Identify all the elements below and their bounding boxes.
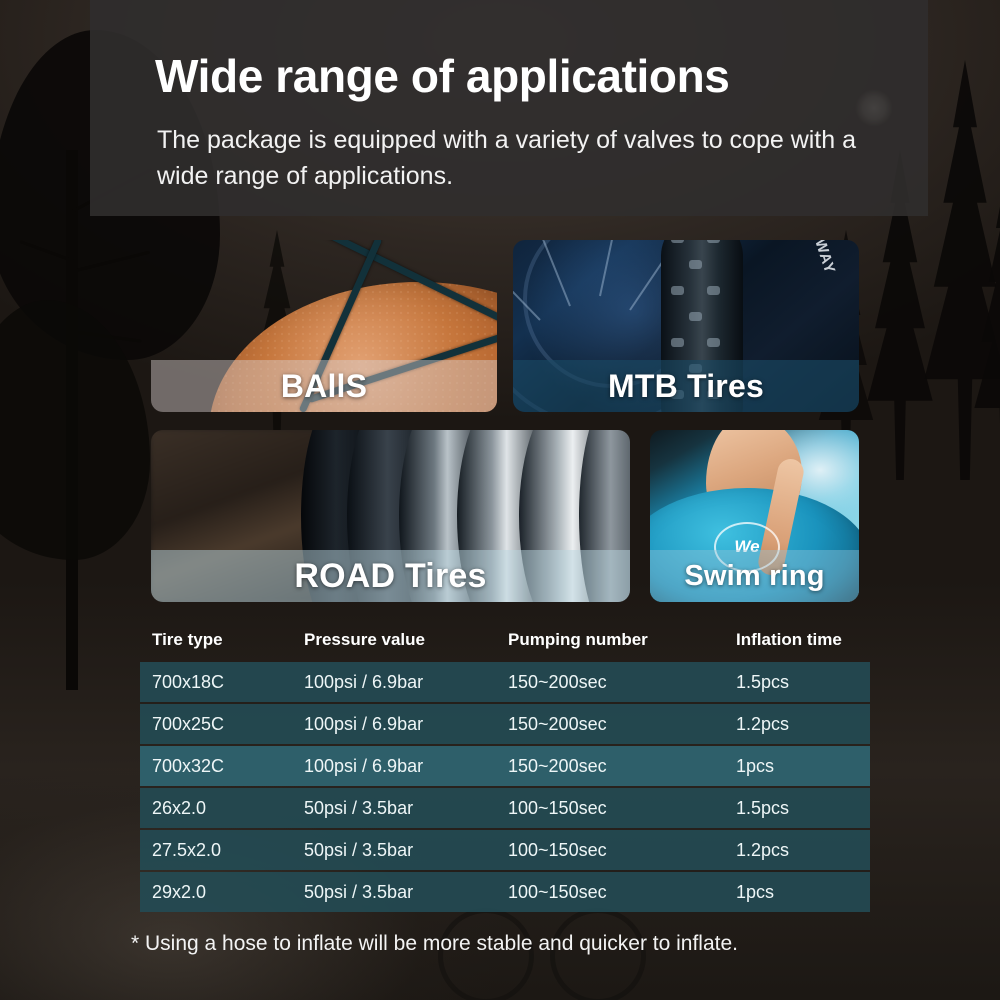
infographic-page: Wide range of applications The package i… bbox=[0, 0, 1000, 1000]
cell-tire-type: 700x18C bbox=[140, 672, 292, 693]
card-label-text: ROAD Tires bbox=[151, 557, 630, 596]
table-row: 700x32C 100psi / 6.9bar 150~200sec 1pcs bbox=[140, 746, 870, 786]
card-label-bar-mtb: MTB Tires bbox=[513, 360, 859, 412]
cell-inflation-time: 1pcs bbox=[724, 756, 870, 777]
page-title: Wide range of applications bbox=[155, 52, 915, 102]
cell-pumping-number: 150~200sec bbox=[496, 672, 724, 693]
mtb-brand-watermark: WAY bbox=[811, 240, 838, 276]
cell-pumping-number: 150~200sec bbox=[496, 756, 724, 777]
cell-pressure-value: 100psi / 6.9bar bbox=[292, 714, 496, 735]
cell-pumping-number: 100~150sec bbox=[496, 840, 724, 861]
column-header-tire-type: Tire type bbox=[140, 630, 292, 650]
application-card-swim[interactable]: We Swim ring bbox=[650, 430, 859, 602]
cell-pumping-number: 150~200sec bbox=[496, 714, 724, 735]
table-row: 27.5x2.0 50psi / 3.5bar 100~150sec 1.2pc… bbox=[140, 830, 870, 870]
table-row: 29x2.0 50psi / 3.5bar 100~150sec 1pcs bbox=[140, 872, 870, 912]
page-subtitle: The package is equipped with a variety o… bbox=[157, 123, 877, 194]
application-card-road[interactable]: ROAD Tires bbox=[151, 430, 630, 602]
specification-table: Tire type Pressure value Pumping number … bbox=[140, 622, 870, 914]
application-card-balls[interactable]: BAllS bbox=[151, 240, 497, 412]
cell-inflation-time: 1.5pcs bbox=[724, 672, 870, 693]
cell-inflation-time: 1.2pcs bbox=[724, 840, 870, 861]
card-label-bar-road: ROAD Tires bbox=[151, 550, 630, 602]
cell-pressure-value: 100psi / 6.9bar bbox=[292, 756, 496, 777]
cell-tire-type: 700x25C bbox=[140, 714, 292, 735]
card-label-bar-swim: Swim ring bbox=[650, 550, 859, 602]
card-label-text: MTB Tires bbox=[513, 368, 859, 405]
table-row: 700x18C 100psi / 6.9bar 150~200sec 1.5pc… bbox=[140, 662, 870, 702]
cell-pressure-value: 50psi / 3.5bar bbox=[292, 798, 496, 819]
column-header-pressure-value: Pressure value bbox=[292, 630, 496, 650]
table-row: 26x2.0 50psi / 3.5bar 100~150sec 1.5pcs bbox=[140, 788, 870, 828]
cell-tire-type: 700x32C bbox=[140, 756, 292, 777]
column-header-inflation-time: Inflation time bbox=[724, 630, 870, 650]
cell-tire-type: 26x2.0 bbox=[140, 798, 292, 819]
cell-inflation-time: 1.2pcs bbox=[724, 714, 870, 735]
cell-inflation-time: 1.5pcs bbox=[724, 798, 870, 819]
cell-pressure-value: 50psi / 3.5bar bbox=[292, 882, 496, 903]
card-label-text: Swim ring bbox=[650, 560, 859, 593]
cell-tire-type: 29x2.0 bbox=[140, 882, 292, 903]
cell-pressure-value: 100psi / 6.9bar bbox=[292, 672, 496, 693]
table-row: 700x25C 100psi / 6.9bar 150~200sec 1.2pc… bbox=[140, 704, 870, 744]
footnote-text: * Using a hose to inflate will be more s… bbox=[131, 932, 891, 956]
card-label-text: BAllS bbox=[151, 368, 497, 405]
cell-inflation-time: 1pcs bbox=[724, 882, 870, 903]
application-card-mtb[interactable]: WAY MTB Tires bbox=[513, 240, 859, 412]
column-header-pumping-number: Pumping number bbox=[496, 630, 724, 650]
cell-pumping-number: 100~150sec bbox=[496, 882, 724, 903]
cell-pressure-value: 50psi / 3.5bar bbox=[292, 840, 496, 861]
card-label-bar-balls: BAllS bbox=[151, 360, 497, 412]
table-header-row: Tire type Pressure value Pumping number … bbox=[140, 622, 870, 658]
cell-tire-type: 27.5x2.0 bbox=[140, 840, 292, 861]
cell-pumping-number: 100~150sec bbox=[496, 798, 724, 819]
